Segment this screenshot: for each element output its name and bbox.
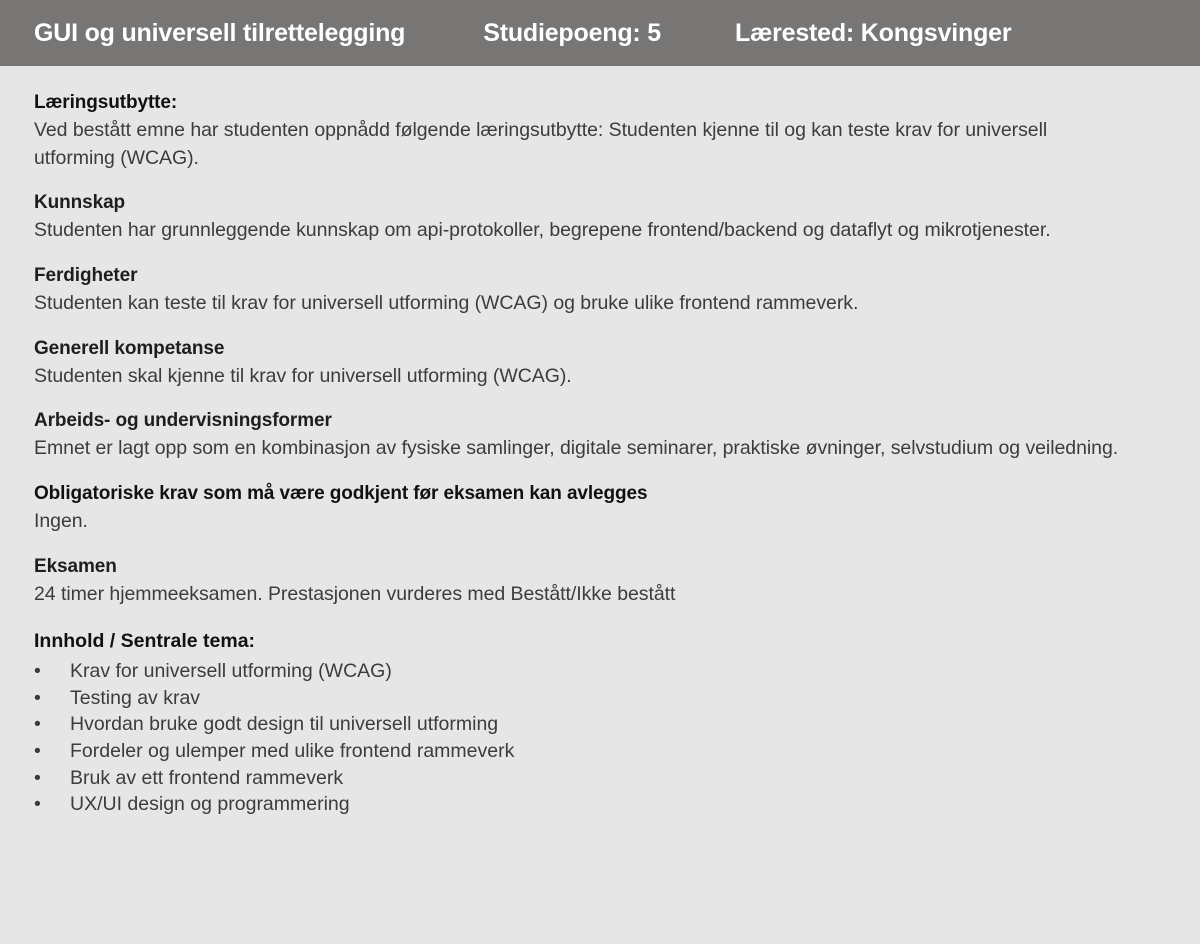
list-item: • Testing av krav [34, 685, 1166, 712]
section-heading-arbeids-og-undervisningsformer: Arbeids- og undervisningsformer [34, 408, 1166, 435]
section-body-arbeids-og-undervisningsformer: Emnet er lagt opp som en kombinasjon av … [34, 435, 1124, 463]
page-header: GUI og universell tilrettelegging Studie… [0, 0, 1200, 66]
list-item-label: Fordeler og ulemper med ulike frontend r… [70, 738, 1166, 765]
list-item-label: UX/UI design og programmering [70, 791, 1166, 818]
list-item: • UX/UI design og programmering [34, 791, 1166, 818]
section-body-kunnskap: Studenten har grunnleggende kunnskap om … [34, 217, 1124, 245]
section-body-laringsutbytte: Ved bestått emne har studenten oppnådd f… [34, 117, 1124, 172]
bullet-icon: • [34, 711, 70, 738]
list-item-label: Bruk av ett frontend rammeverk [70, 765, 1166, 792]
bullet-icon: • [34, 658, 70, 685]
bullet-icon: • [34, 738, 70, 765]
bullet-icon: • [34, 791, 70, 818]
section-heading-eksamen: Eksamen [34, 554, 1166, 581]
list-item-label: Testing av krav [70, 685, 1166, 712]
section-heading-obligatoriske-krav: Obligatoriske krav som må være godkjent … [34, 481, 1166, 508]
section-body-generell-kompetanse: Studenten skal kjenne til krav for unive… [34, 363, 1124, 391]
section-innhold-sentrale-tema: Innhold / Sentrale tema: • Krav for univ… [34, 628, 1166, 818]
topics-list: • Krav for universell utforming (WCAG) •… [34, 658, 1166, 818]
section-heading-laringsutbytte: Læringsutbytte: [34, 90, 1166, 117]
bullet-icon: • [34, 765, 70, 792]
section-body-eksamen: 24 timer hjemmeeksamen. Prestasjonen vur… [34, 581, 1124, 609]
course-credits: Studiepoeng: 5 [483, 19, 661, 48]
bullet-icon: • [34, 685, 70, 712]
section-body-ferdigheter: Studenten kan teste til krav for univers… [34, 290, 1124, 318]
section-arbeids-og-undervisningsformer: Arbeids- og undervisningsformer Emnet er… [34, 408, 1166, 463]
section-body-obligatoriske-krav: Ingen. [34, 508, 1124, 536]
list-item: • Bruk av ett frontend rammeverk [34, 765, 1166, 792]
section-laringsutbytte: Læringsutbytte: Ved bestått emne har stu… [34, 90, 1166, 172]
list-item: • Hvordan bruke godt design til universe… [34, 711, 1166, 738]
section-heading-kunnskap: Kunnskap [34, 190, 1166, 217]
section-generell-kompetanse: Generell kompetanse Studenten skal kjenn… [34, 336, 1166, 391]
list-item: • Fordeler og ulemper med ulike frontend… [34, 738, 1166, 765]
section-kunnskap: Kunnskap Studenten har grunnleggende kun… [34, 190, 1166, 245]
section-heading-innhold-sentrale-tema: Innhold / Sentrale tema: [34, 628, 1166, 656]
section-ferdigheter: Ferdigheter Studenten kan teste til krav… [34, 263, 1166, 318]
section-obligatoriske-krav: Obligatoriske krav som må være godkjent … [34, 481, 1166, 536]
course-description-body: Læringsutbytte: Ved bestått emne har stu… [0, 66, 1200, 818]
list-item: • Krav for universell utforming (WCAG) [34, 658, 1166, 685]
course-title: GUI og universell tilrettelegging [0, 19, 405, 48]
section-eksamen: Eksamen 24 timer hjemmeeksamen. Prestasj… [34, 554, 1166, 609]
list-item-label: Hvordan bruke godt design til universell… [70, 711, 1166, 738]
section-heading-generell-kompetanse: Generell kompetanse [34, 336, 1166, 363]
section-heading-ferdigheter: Ferdigheter [34, 263, 1166, 290]
course-campus: Lærested: Kongsvinger [735, 19, 1011, 48]
list-item-label: Krav for universell utforming (WCAG) [70, 658, 1166, 685]
